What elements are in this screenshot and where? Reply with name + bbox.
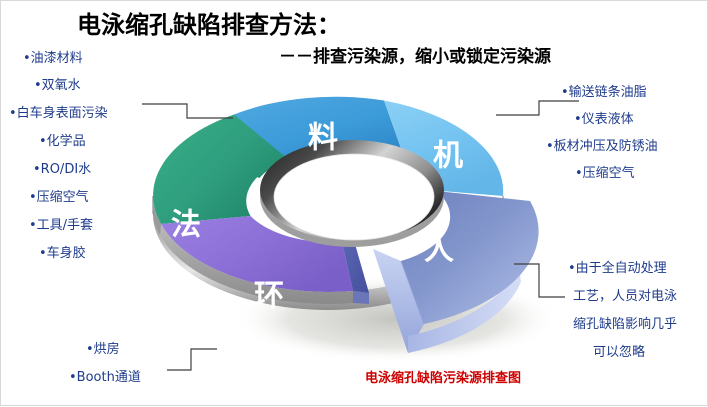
- bullet-dot: •: [86, 342, 94, 357]
- bullet-dot: •: [574, 112, 582, 127]
- bullet-material-5: •压缩空气: [29, 186, 89, 205]
- leader-line-material: [142, 104, 233, 118]
- segment-label-method: 法: [171, 208, 201, 243]
- bullet-person-3: 可以忽略: [593, 341, 645, 360]
- bullet-machine-3: •压缩空气: [575, 162, 635, 181]
- bullet-dot: •: [568, 261, 576, 276]
- bullet-material-4: •RO/DI水: [33, 158, 91, 177]
- bullet-person-1: 工艺，人员对电泳: [573, 285, 677, 304]
- bullet-dot: •: [33, 162, 41, 177]
- segment-label-person: 人: [424, 233, 454, 268]
- bullet-person-0: •由于全自动处理: [568, 257, 667, 276]
- slide-canvas: 电泳缩孔缺陷排查方法： －－排查污染源，缩小或锁定污染源: [0, 0, 708, 406]
- segment-sliver-side: [353, 291, 369, 304]
- bullet-machine-1: •仪表液体: [574, 108, 634, 127]
- bullet-environment-1: •Booth通道: [69, 366, 141, 385]
- chart-caption: 电泳缩孔缺陷污染源排查图: [365, 367, 521, 386]
- segment-label-environment: 环: [254, 279, 284, 314]
- bullet-material-0: •油漆材料: [23, 47, 83, 66]
- bullet-dot: •: [39, 246, 47, 261]
- bullet-machine-2: •板材冲压及防锈油: [546, 135, 658, 154]
- bullet-machine-0: •输送链条油脂: [561, 81, 647, 100]
- bullet-material-3: •化学品: [39, 130, 86, 149]
- bullet-dot: •: [39, 134, 47, 149]
- bullet-dot: •: [23, 51, 31, 66]
- bullet-material-1: •双氧水: [34, 74, 81, 93]
- bullet-dot: •: [29, 190, 37, 205]
- bullet-dot: •: [29, 218, 37, 233]
- bullet-material-2: •白车身表面污染: [9, 102, 108, 121]
- bullet-material-7: •车身胶: [39, 242, 86, 261]
- bullet-person-2: 缩孔缺陷影响几乎: [573, 313, 677, 332]
- bullet-dot: •: [34, 78, 42, 93]
- bullet-dot: •: [9, 106, 17, 121]
- bullet-dot: •: [561, 85, 569, 100]
- bullet-dot: •: [575, 166, 583, 181]
- segment-label-material: 料: [308, 121, 338, 156]
- segment-label-machine: 机: [433, 139, 463, 174]
- leader-line-machine: [496, 101, 579, 115]
- bullet-dot: •: [69, 370, 77, 385]
- bullet-environment-0: •烘房: [86, 338, 120, 357]
- leader-line-environment: [167, 349, 217, 370]
- doughnut-hole: [260, 140, 444, 247]
- bullet-dot: •: [546, 139, 554, 154]
- bullet-material-6: •工具/手套: [29, 214, 93, 233]
